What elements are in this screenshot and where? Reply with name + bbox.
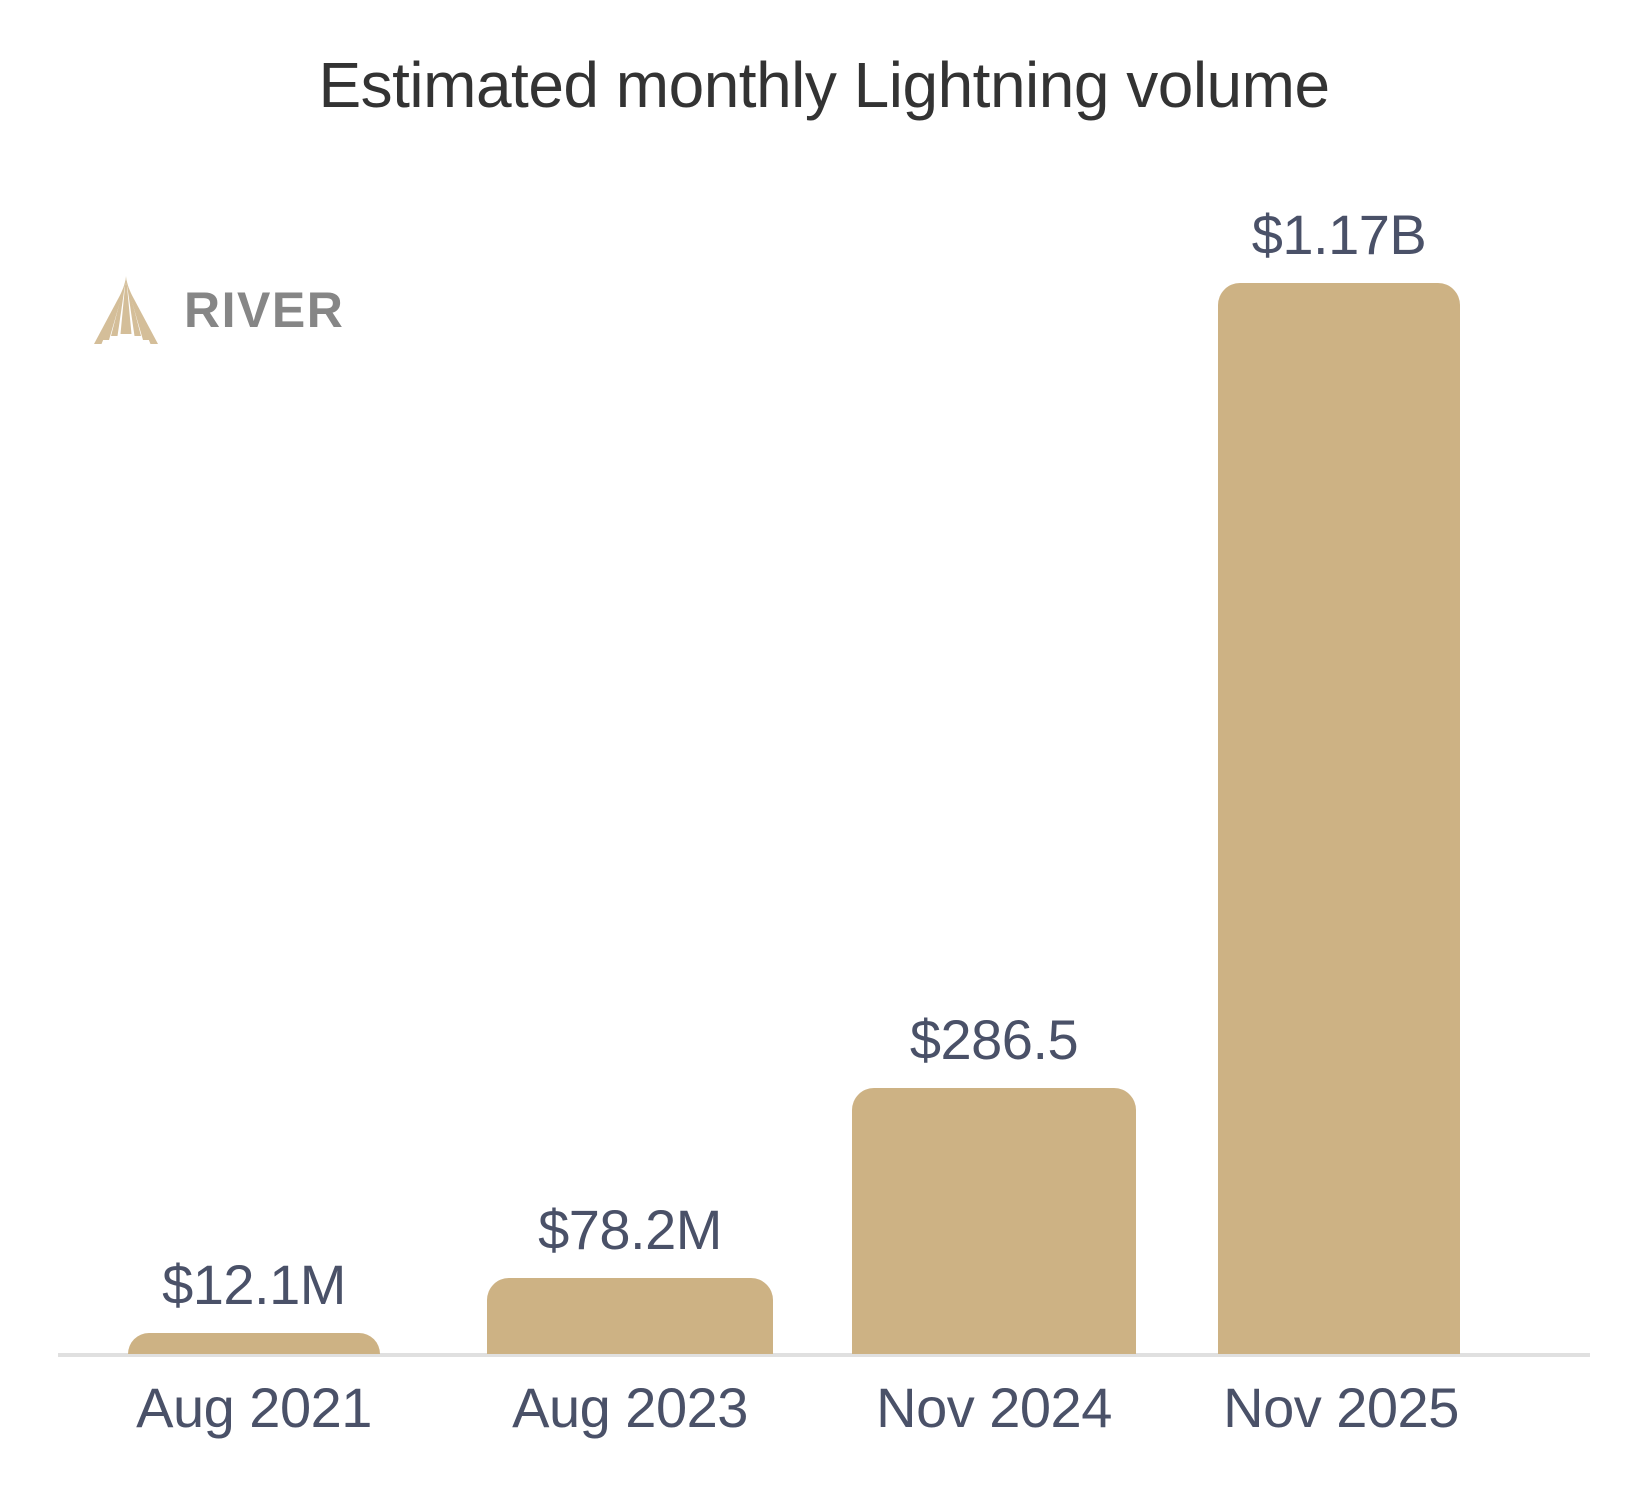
bar-nov-2024[interactable] bbox=[852, 1088, 1136, 1354]
bar-value-label-nov-2025: $1.17B bbox=[1208, 202, 1470, 267]
plot-area: $12.1M Aug 2021 $78.2M Aug 2023 $286.5 N… bbox=[0, 0, 1648, 1509]
bar-aug-2023[interactable] bbox=[487, 1278, 773, 1354]
x-axis-label-nov-2024: Nov 2024 bbox=[848, 1375, 1140, 1440]
x-axis-label-aug-2021: Aug 2021 bbox=[118, 1375, 390, 1440]
bar-value-label-nov-2024: $286.5 bbox=[852, 1007, 1136, 1072]
x-axis-label-aug-2023: Aug 2023 bbox=[484, 1375, 776, 1440]
x-axis-label-nov-2025: Nov 2025 bbox=[1200, 1375, 1482, 1440]
bar-value-label-aug-2023: $78.2M bbox=[487, 1197, 773, 1262]
bar-value-label-aug-2021: $12.1M bbox=[128, 1252, 380, 1317]
chart-container: Estimated monthly Lightning volume RIVER bbox=[0, 0, 1648, 1509]
bar-aug-2021[interactable] bbox=[128, 1333, 380, 1354]
bar-nov-2025[interactable] bbox=[1218, 283, 1460, 1354]
